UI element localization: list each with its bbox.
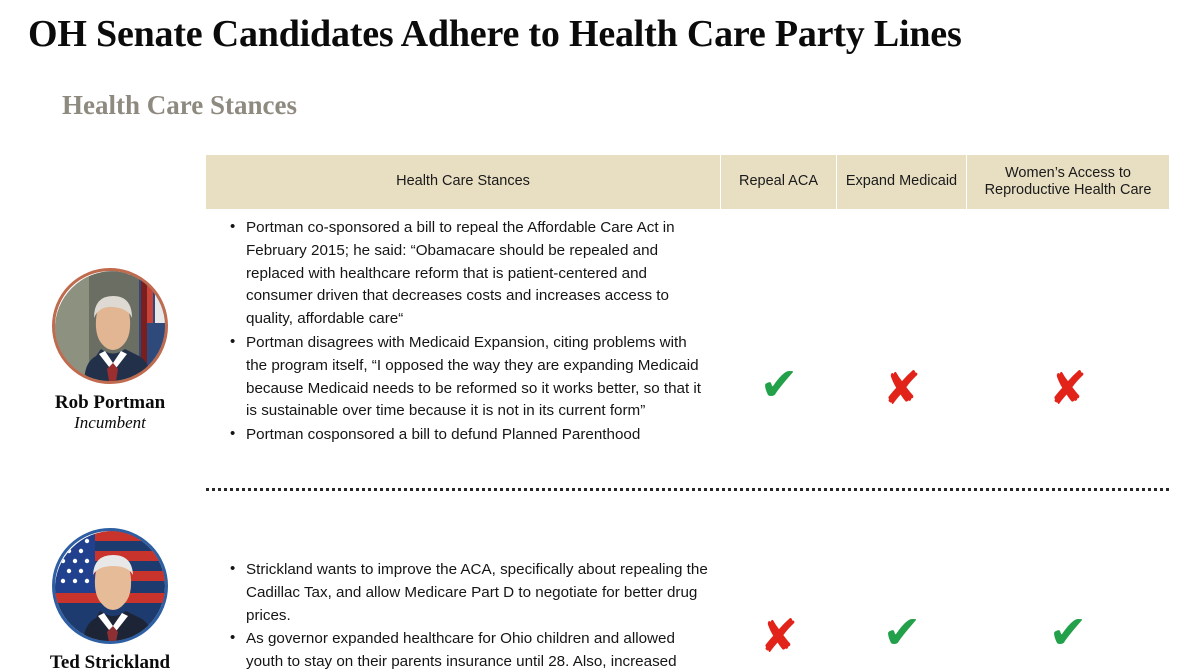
list-item: As governor expanded healthcare for Ohio… (230, 628, 709, 670)
check-icon: ✔ (883, 609, 922, 655)
cross-icon: ✘ (883, 365, 922, 411)
slide-canvas: OH Senate Candidates Adhere to Health Ca… (0, 0, 1192, 670)
page-title: OH Senate Candidates Adhere to Health Ca… (28, 12, 1158, 56)
cross-icon: ✘ (1049, 365, 1088, 411)
list-item: Strickland wants to improve the ACA, spe… (230, 559, 709, 627)
candidate-block-portman: Rob Portman Incumbent (10, 268, 210, 433)
mark-cell-expand: ✘ (837, 209, 967, 411)
candidate-name: Rob Portman (10, 392, 210, 414)
check-icon: ✔ (1049, 609, 1088, 655)
mark-cell-women: ✘ (967, 209, 1169, 411)
column-header-womens-access: Women’s Access to Reproductive Health Ca… (967, 155, 1169, 209)
mark-cell-women: ✔ (967, 551, 1169, 655)
stances-cell: Strickland wants to improve the ACA, spe… (206, 551, 721, 670)
stances-cell: Portman co-sponsored a bill to repeal th… (206, 209, 721, 448)
bullet-list: Portman co-sponsored a bill to repeal th… (212, 217, 709, 447)
avatar (52, 268, 168, 384)
health-care-stances-table: Health Care Stances Repeal ACA Expand Me… (206, 155, 1169, 670)
strickland-headshot-icon (55, 531, 168, 644)
table-header-row: Health Care Stances Repeal ACA Expand Me… (206, 155, 1169, 209)
list-item: Portman disagrees with Medicaid Expansio… (230, 332, 709, 423)
list-item: Portman cosponsored a bill to defund Pla… (230, 424, 709, 447)
table-row: Strickland wants to improve the ACA, spe… (206, 529, 1169, 670)
candidate-block-strickland: Ted Strickland (10, 528, 210, 670)
list-item: Portman co-sponsored a bill to repeal th… (230, 217, 709, 331)
candidate-subtitle: Incumbent (10, 413, 210, 433)
mark-cell-expand: ✔ (837, 551, 967, 655)
column-header-expand-medicaid: Expand Medicaid (837, 155, 967, 209)
cross-icon: ✘ (760, 613, 799, 659)
column-header-stances: Health Care Stances (206, 155, 721, 209)
mark-cell-repeal: ✘ (721, 551, 837, 659)
portman-headshot-icon (55, 271, 168, 384)
avatar (52, 528, 168, 644)
row-divider (206, 488, 1169, 491)
section-subtitle: Health Care Stances (62, 90, 297, 121)
check-icon: ✔ (760, 361, 799, 407)
mark-cell-repeal: ✔ (721, 209, 837, 407)
candidate-name: Ted Strickland (10, 652, 210, 670)
table-row: Portman co-sponsored a bill to repeal th… (206, 209, 1169, 529)
bullet-list: Strickland wants to improve the ACA, spe… (212, 559, 709, 670)
column-header-repeal-aca: Repeal ACA (721, 155, 837, 209)
